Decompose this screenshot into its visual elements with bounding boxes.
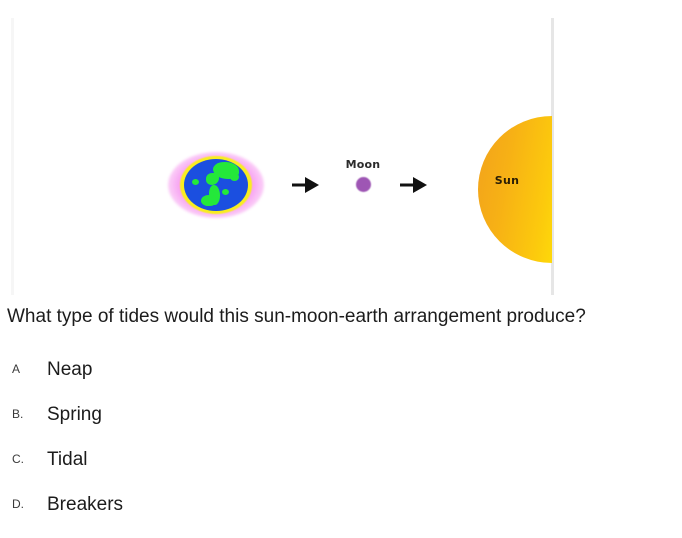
earth-landmass	[206, 173, 219, 185]
arrow-right-icon	[292, 175, 320, 195]
options-list: A Neap B. Spring C. Tidal D. Breakers	[7, 358, 667, 538]
option-text-a: Neap	[47, 358, 92, 382]
earth-landmass	[230, 173, 239, 181]
question-text: What type of tides would this sun-moon-e…	[7, 306, 677, 328]
earth-landmass	[222, 189, 229, 195]
earth-globe	[184, 159, 248, 211]
option-text-d: Breakers	[47, 493, 123, 517]
sun-label: Sun	[478, 174, 552, 187]
moon-illustration: Moon	[333, 158, 393, 196]
option-text-c: Tidal	[47, 448, 87, 472]
option-row-c[interactable]: C. Tidal	[7, 448, 667, 493]
sun-illustration: Sun	[478, 116, 552, 263]
option-label-d: D.	[12, 497, 24, 511]
option-row-d[interactable]: D. Breakers	[7, 493, 667, 538]
moon-label: Moon	[333, 158, 393, 171]
option-label-a: A	[12, 362, 20, 376]
panel-left-rule	[11, 18, 14, 295]
diagram-panel: Moon Sun	[0, 0, 682, 297]
option-label-b: B.	[12, 407, 23, 421]
earth-landmass	[192, 179, 199, 185]
arrow-right-icon	[400, 175, 428, 195]
earth-landmass	[201, 195, 216, 206]
option-row-b[interactable]: B. Spring	[7, 403, 667, 448]
moon-body	[356, 177, 371, 192]
option-text-b: Spring	[47, 403, 102, 427]
option-row-a[interactable]: A Neap	[7, 358, 667, 403]
earth-illustration	[168, 152, 264, 218]
option-label-c: C.	[12, 452, 24, 466]
